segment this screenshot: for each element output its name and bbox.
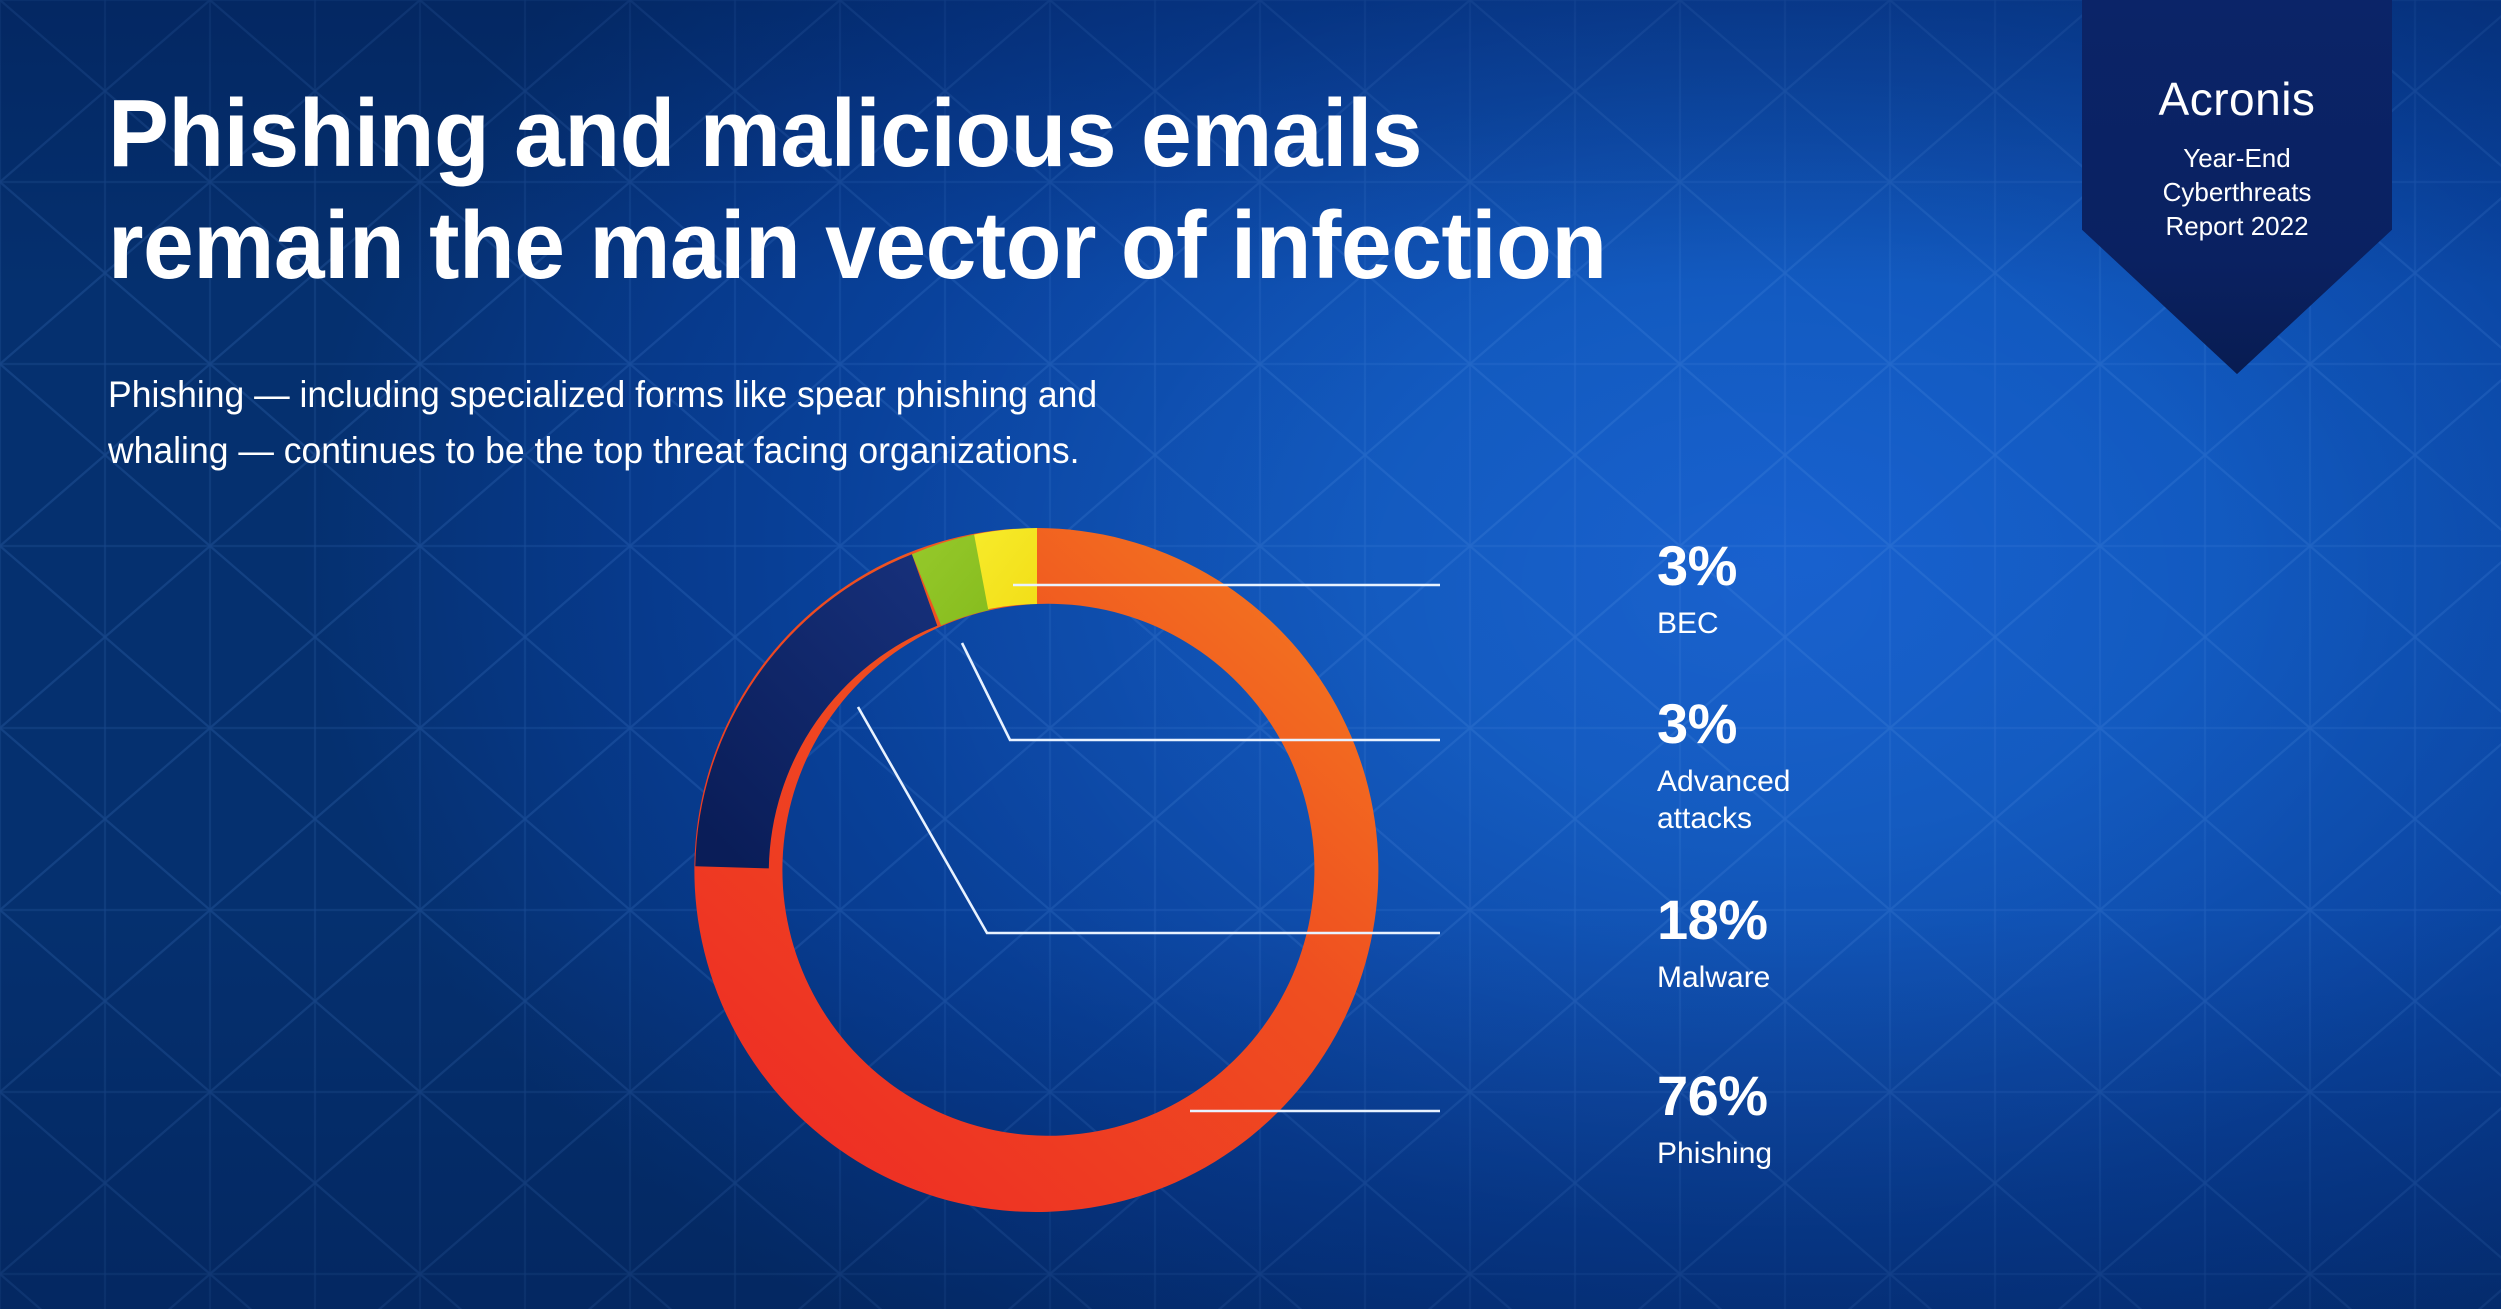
legend-item-phishing: 76% Phishing <box>1657 1068 1772 1172</box>
legend-item-bec: 3% BEC <box>1657 538 1737 642</box>
acronis-report-ribbon: Acronis Year-End Cyberthreats Report 202… <box>2082 0 2392 374</box>
legend-value: 3% <box>1657 696 1790 752</box>
report-name: Year-End Cyberthreats Report 2022 <box>2082 142 2392 243</box>
legend-label: Malware <box>1657 959 1770 996</box>
slide-canvas: Phishing and malicious emails remain the… <box>0 0 2501 1309</box>
legend-value: 18% <box>1657 892 1770 948</box>
legend-value: 76% <box>1657 1068 1772 1124</box>
legend-label: Advanced attacks <box>1657 763 1790 837</box>
donut-segment-malware <box>695 554 937 868</box>
legend-item-malware: 18% Malware <box>1657 892 1770 996</box>
page-title: Phishing and malicious emails remain the… <box>108 78 1847 303</box>
acronis-logo: Acronis <box>2082 72 2392 126</box>
page-subtitle: Phishing — including specialized forms l… <box>108 367 1375 479</box>
legend-item-advanced-attacks: 3% Advanced attacks <box>1657 696 1790 837</box>
donut-chart <box>640 480 1440 1280</box>
legend-label: BEC <box>1657 605 1737 642</box>
legend-label: Phishing <box>1657 1135 1772 1172</box>
legend-value: 3% <box>1657 538 1737 594</box>
leader-line-advanced-attacks <box>962 643 1440 740</box>
